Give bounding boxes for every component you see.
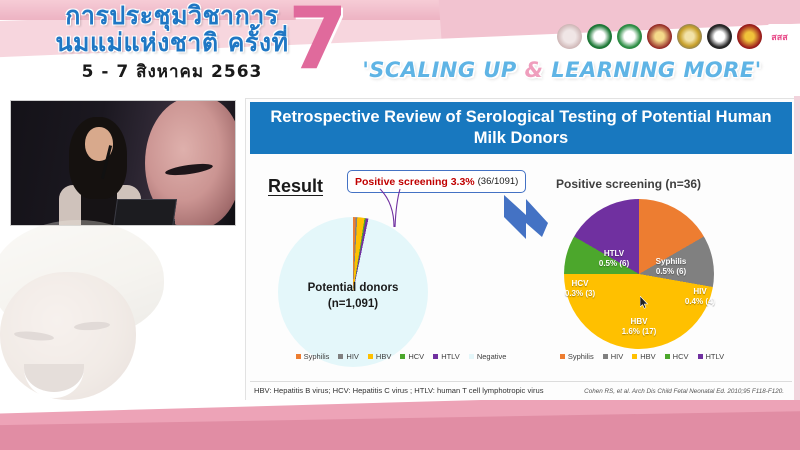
legend-label-htlv-right: HTLV	[706, 352, 725, 361]
slice-label-syphilis: Syphilis 0.5% (6)	[642, 257, 700, 278]
legend-item-htlv[interactable]: HTLV	[433, 352, 460, 361]
conference-tagline: 'SCALING UP & LEARNING MORE'	[330, 58, 794, 82]
legend-item-negative[interactable]: Negative	[469, 352, 507, 361]
legend-label-hbv: HBV	[376, 352, 391, 361]
legend-label-hiv-right: HIV	[611, 352, 624, 361]
slice-value-htlv: 0.5% (6)	[588, 259, 640, 269]
pediatric-society-logo	[737, 24, 762, 49]
right-pink-edge-strip	[794, 96, 800, 426]
left-column	[0, 96, 240, 450]
conference-header-banner: การประชุมวิชาการ นมแม่แห่งชาติ ครั้งที่ …	[0, 0, 800, 96]
callout-percent: Positive screening 3.3%	[355, 176, 475, 188]
slice-name-hcv: HCV	[556, 279, 604, 289]
tagline-ampersand: &	[525, 58, 544, 82]
thai-emblem-logo	[677, 24, 702, 49]
potential-donors-pie-label: Potential donors (n=1,091)	[278, 281, 428, 312]
legend-item-hbv-right[interactable]: HBV	[632, 352, 655, 361]
legend-label-negative: Negative	[477, 352, 507, 361]
slide-title: Retrospective Review of Serological Test…	[250, 102, 792, 154]
ministry-of-public-health-logo	[587, 24, 612, 49]
blue-arrow-icon	[496, 193, 554, 245]
legend-swatch-syphilis-right	[560, 354, 565, 359]
legend-item-syphilis[interactable]: Syphilis	[296, 352, 330, 361]
slice-label-hcv: HCV 0.3% (3)	[556, 279, 604, 300]
footnote-abbreviation-definitions: HBV: Hepatitis B virus; HCV: Hepatitis C…	[254, 386, 544, 395]
legend-item-hbv[interactable]: HBV	[368, 352, 391, 361]
slice-name-hiv: HIV	[674, 287, 726, 297]
legend-swatch-htlv	[433, 354, 438, 359]
legend-item-hcv-right[interactable]: HCV	[665, 352, 689, 361]
legend-swatch-htlv-right	[698, 354, 703, 359]
slice-label-hbv: HBV 1.6% (17)	[611, 317, 667, 338]
legend-swatch-hcv	[400, 354, 405, 359]
slice-name-hbv: HBV	[611, 317, 667, 327]
slice-name-htlv: HTLV	[588, 249, 640, 259]
presentation-screenshot: การประชุมวิชาการ นมแม่แห่งชาติ ครั้งที่ …	[0, 0, 800, 450]
mouse-cursor-icon	[640, 296, 649, 309]
conference-date: 5 - 7 สิงหาคม 2563	[22, 58, 322, 85]
legend-swatch-hiv	[338, 354, 343, 359]
legend-swatch-hbv-right	[632, 354, 637, 359]
thai-title-line2: นมแม่แห่งชาติ ครั้งที่	[22, 30, 322, 55]
legend-swatch-hcv-right	[665, 354, 670, 359]
legend-label-syphilis: Syphilis	[304, 352, 330, 361]
department-of-health-logo	[617, 24, 642, 49]
sponsor-logos-row: สสส	[557, 24, 792, 49]
slide-footnote: HBV: Hepatitis B virus; HCV: Hepatitis C…	[250, 381, 792, 395]
legend-label-hcv: HCV	[408, 352, 424, 361]
legend-swatch-hbv	[368, 354, 373, 359]
legend-item-htlv-right[interactable]: HTLV	[698, 352, 725, 361]
pie-label-line1: Potential donors	[278, 281, 428, 297]
legend-swatch-negative	[469, 354, 474, 359]
slice-label-hiv: HIV 0.4% (4)	[674, 287, 726, 308]
legend-item-hcv[interactable]: HCV	[400, 352, 424, 361]
legend-label-hbv-right: HBV	[640, 352, 655, 361]
slice-value-syphilis: 0.5% (6)	[642, 267, 700, 277]
royal-seal-logo	[557, 24, 582, 49]
legend-item-hiv-right[interactable]: HIV	[603, 352, 624, 361]
thai-title-line1: การประชุมวิชาการ	[22, 3, 322, 28]
royal-college-logo	[647, 24, 672, 49]
tagline-part1: 'SCALING UP	[362, 58, 524, 82]
speaker-video-feed[interactable]	[10, 100, 236, 226]
result-heading: Result	[268, 176, 323, 197]
bottom-pink-banner	[0, 400, 800, 450]
slice-value-hbv: 1.6% (17)	[611, 327, 667, 337]
legend-label-syphilis-right: Syphilis	[568, 352, 594, 361]
slice-value-hcv: 0.3% (3)	[556, 289, 604, 299]
legend-item-syphilis-right[interactable]: Syphilis	[560, 352, 594, 361]
nursing-council-logo	[707, 24, 732, 49]
slice-label-htlv: HTLV 0.5% (6)	[588, 249, 640, 270]
right-chart-legend: Syphilis HIV HBV HCV HTLV	[542, 352, 742, 361]
slice-name-syphilis: Syphilis	[642, 257, 700, 267]
thaihealth-sss-logo: สสส	[767, 24, 792, 49]
pie-label-line2: (n=1,091)	[278, 297, 428, 313]
callout-fraction: (36/1091)	[478, 176, 519, 187]
presentation-slide: Retrospective Review of Serological Test…	[245, 98, 797, 410]
legend-swatch-hiv-right	[603, 354, 608, 359]
left-chart-legend: Syphilis HIV HBV HCV HTLV Negative	[266, 352, 536, 361]
slice-value-hiv: 0.4% (4)	[674, 297, 726, 307]
legend-label-htlv: HTLV	[441, 352, 460, 361]
positive-screening-chart-title: Positive screening (n=36)	[556, 177, 701, 191]
legend-label-hcv-right: HCV	[673, 352, 689, 361]
legend-label-hiv: HIV	[346, 352, 359, 361]
footnote-citation: Cohen RS, et al. Arch Dis Child Fetal Ne…	[584, 388, 784, 395]
legend-item-hiv[interactable]: HIV	[338, 352, 359, 361]
legend-swatch-syphilis	[296, 354, 301, 359]
conference-thai-title: การประชุมวิชาการ นมแม่แห่งชาติ ครั้งที่ …	[22, 3, 322, 85]
tagline-part2: LEARNING MORE'	[543, 58, 761, 82]
